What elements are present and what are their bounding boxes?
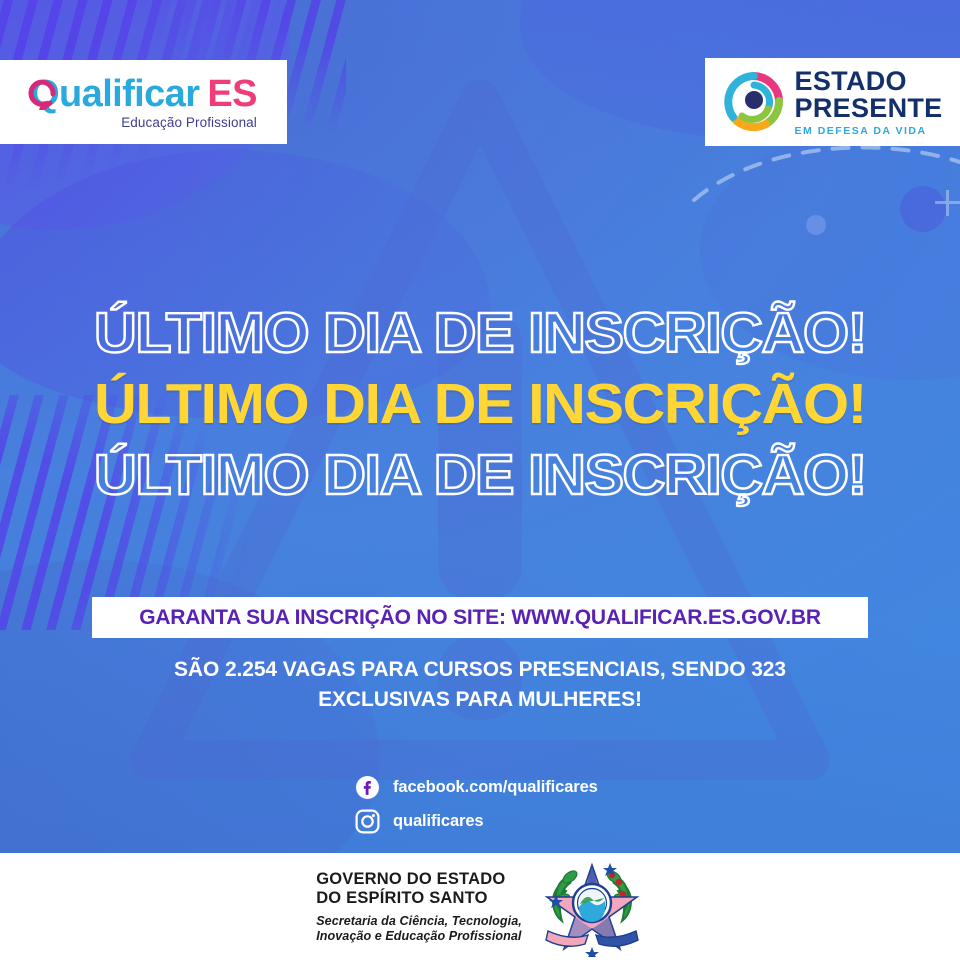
dept-line-2: Inovação e Educação Profissional (316, 929, 522, 944)
promotional-poster: Qualificar ES Educação Profissional (0, 0, 960, 960)
estado-presente-line1: ESTADO (795, 68, 943, 94)
vacancies-line-1: SÃO 2.254 VAGAS PARA CURSOS PRESENCIAIS,… (130, 655, 830, 685)
qualificar-tagline: Educação Profissional (121, 116, 257, 130)
instagram-handle: qualificares (393, 812, 484, 831)
social-links: facebook.com/qualificares qualificares (0, 775, 960, 834)
estado-presente-line2: PRESENTE (795, 95, 943, 121)
headline-line-2: ÚLTIMO DIA DE INSCRIÇÃO! (0, 376, 960, 433)
government-text-block: GOVERNO DO ESTADO DO ESPÍRITO SANTO Secr… (316, 870, 522, 943)
instagram-icon (355, 809, 380, 834)
qualificar-name-suffix: ES (207, 75, 257, 113)
decor-circle-small (806, 215, 826, 235)
espirito-santo-coat-of-arms-icon (540, 857, 644, 957)
gov-line-1: GOVERNO DO ESTADO (316, 870, 522, 889)
decor-plus-mark (935, 190, 960, 216)
gov-line-2: DO ESPÍRITO SANTO (316, 889, 522, 908)
headline-line-1: ÚLTIMO DIA DE INSCRIÇÃO! (0, 305, 960, 362)
facebook-handle: facebook.com/qualificares (393, 778, 598, 797)
qualificar-es-logo[interactable]: Qualificar ES Educação Profissional (0, 60, 287, 144)
social-row-instagram[interactable]: qualificares (355, 809, 605, 834)
estado-presente-line3: EM DEFESA DA VIDA (795, 126, 943, 136)
vacancies-line-2: EXCLUSIVAS PARA MULHERES! (130, 685, 830, 715)
website-cta-banner[interactable]: GARANTA SUA INSCRIÇÃO NO SITE: WWW.QUALI… (92, 597, 868, 638)
facebook-icon (355, 775, 380, 800)
headline-stack: ÚLTIMO DIA DE INSCRIÇÃO! ÚLTIMO DIA DE I… (0, 305, 960, 504)
website-cta-text: GARANTA SUA INSCRIÇÃO NO SITE: WWW.QUALI… (139, 606, 821, 630)
qualificar-wordmark: Qualificar (30, 75, 199, 113)
headline-line-3: ÚLTIMO DIA DE INSCRIÇÃO! (0, 447, 960, 504)
estado-presente-logo[interactable]: ESTADO PRESENTE EM DEFESA DA VIDA (705, 58, 960, 146)
vacancies-text: SÃO 2.254 VAGAS PARA CURSOS PRESENCIAIS,… (130, 655, 830, 715)
estado-presente-spiral-icon (723, 71, 785, 133)
social-row-facebook[interactable]: facebook.com/qualificares (355, 775, 605, 800)
government-footer: GOVERNO DO ESTADO DO ESPÍRITO SANTO Secr… (0, 853, 960, 960)
dept-line-1: Secretaria da Ciência, Tecnologia, (316, 914, 522, 929)
